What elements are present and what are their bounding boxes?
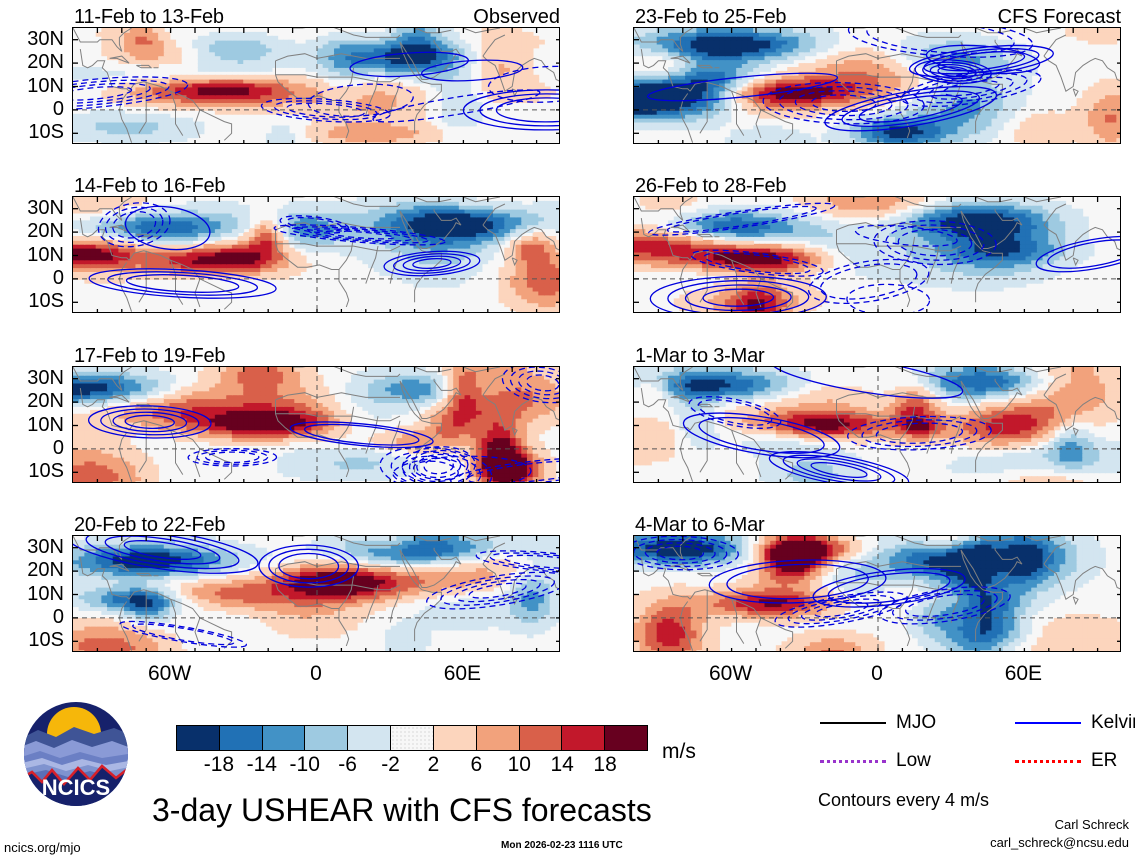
generation-timestamp: Mon 2026-02-23 1116 UTC [501,840,623,851]
ncics-logo: NCICS [22,700,130,808]
legend-line-sample [820,722,886,724]
y-axis-tick-label: 30N [0,198,64,218]
map-plot-area [72,27,560,144]
author-email: carl_schreck@ncsu.edu [990,834,1129,852]
ncics-logo-text: NCICS [42,775,110,800]
author-credit: Carl Schreck carl_schreck@ncsu.edu [990,816,1129,851]
colorbar-swatch [434,726,477,750]
map-panel: 23-Feb to 25-FebCFS Forecast [633,27,1121,144]
y-axis-tick-label: 20N [0,52,64,72]
y-axis-tick-label: 10S [0,630,64,650]
colorbar-tick-label: 18 [593,753,616,777]
y-axis-tick-label: 10N [0,245,64,265]
panel-title: 14-Feb to 16-Feb [74,175,225,198]
colorbar-swatch [305,726,348,750]
map-panel: 17-Feb to 19-Feb [72,366,560,483]
map-plot-area [633,535,1121,652]
column-header: CFS Forecast [998,6,1121,29]
contour-interval-note: Contours every 4 m/s [818,790,989,811]
legend-entry: Low [820,750,931,772]
panel-title: 1-Mar to 3-Mar [635,345,764,368]
panel-title: 23-Feb to 25-Feb [635,6,786,29]
x-axis-tick-label: 60W [681,662,781,686]
author-name: Carl Schreck [990,816,1129,834]
y-axis-tick-label: 10S [0,461,64,481]
y-axis-tick-label: 20N [0,221,64,241]
x-axis-tick-label: 60E [412,662,512,686]
y-axis-tick-label: 20N [0,560,64,580]
colorbar-tick-label: -10 [290,753,320,777]
y-axis-tick-label: 0 [0,438,64,458]
map-panel: 4-Mar to 6-Mar [633,535,1121,652]
colorbar-swatch [391,726,434,750]
y-axis-tick-label: 10N [0,76,64,96]
colorbar-tick-label: -6 [338,753,357,777]
panel-title: 4-Mar to 6-Mar [635,514,764,537]
x-axis-tick-label: 0 [827,662,927,686]
colorbar-tick-label: 2 [428,753,440,777]
map-panel: 20-Feb to 22-Feb [72,535,560,652]
legend-entry: ER [1015,750,1117,772]
colorbar-tick-label: -2 [381,753,400,777]
y-axis-tick-label: 10S [0,291,64,311]
legend-label: ER [1091,750,1117,772]
legend-label: Low [896,750,931,772]
site-url: ncics.org/mjo [4,840,81,855]
colorbar-swatch [348,726,391,750]
y-axis-tick-label: 10S [0,122,64,142]
ncics-logo-graphic: NCICS [22,700,130,808]
legend-line-sample [1015,760,1081,763]
colorbar-swatch [562,726,605,750]
map-plot-area [72,196,560,313]
map-panel: 1-Mar to 3-Mar [633,366,1121,483]
x-axis-tick-label: 0 [266,662,366,686]
figure-title: 3-day USHEAR with CFS forecasts [152,792,652,829]
colorbar-tick-label: -18 [204,753,234,777]
colorbar-tick-label: 14 [550,753,573,777]
y-axis-tick-label: 30N [0,29,64,49]
y-axis-tick-label: 20N [0,391,64,411]
panel-title: 20-Feb to 22-Feb [74,514,225,537]
column-header: Observed [473,6,560,29]
y-axis-tick-label: 0 [0,268,64,288]
map-plot-area [633,27,1121,144]
colorbar: -18-14-10-6-226101418 [176,725,648,751]
colorbar-swatches [176,725,648,751]
legend-label: Kelvin x2 [1091,712,1135,734]
colorbar-swatch [177,726,220,750]
map-panel: 11-Feb to 13-FebObserved [72,27,560,144]
y-axis-tick-label: 0 [0,99,64,119]
y-axis-tick-label: 10N [0,415,64,435]
map-plot-area [633,366,1121,483]
y-axis-tick-label: 10N [0,584,64,604]
panel-title: 26-Feb to 28-Feb [635,175,786,198]
legend-entry: MJO [820,712,936,734]
legend-line-sample [820,760,886,763]
map-panel: 14-Feb to 16-Feb [72,196,560,313]
y-axis-tick-label: 30N [0,368,64,388]
colorbar-ticklabels: -18-14-10-6-226101418 [176,753,648,779]
panel-title: 17-Feb to 19-Feb [74,345,225,368]
x-axis-tick-label: 60W [120,662,220,686]
colorbar-swatch [477,726,520,750]
map-plot-area [633,196,1121,313]
panel-title: 11-Feb to 13-Feb [74,6,224,29]
legend-label: MJO [896,712,936,734]
colorbar-tick-label: 6 [471,753,483,777]
colorbar-tick-label: -14 [247,753,277,777]
legend-line-sample [1015,722,1081,724]
y-axis-tick-label: 30N [0,537,64,557]
mjo-ushear-figure: 11-Feb to 13-FebObserved23-Feb to 25-Feb… [0,0,1135,860]
y-axis-tick-label: 0 [0,607,64,627]
colorbar-units: m/s [662,740,696,764]
map-plot-area [72,366,560,483]
map-plot-area [72,535,560,652]
map-panel: 26-Feb to 28-Feb [633,196,1121,313]
x-axis-tick-label: 60E [973,662,1073,686]
colorbar-swatch [220,726,263,750]
colorbar-swatch [263,726,306,750]
colorbar-swatch [605,726,647,750]
colorbar-swatch [520,726,563,750]
legend-entry: Kelvin x2 [1015,712,1135,734]
colorbar-tick-label: 10 [508,753,531,777]
